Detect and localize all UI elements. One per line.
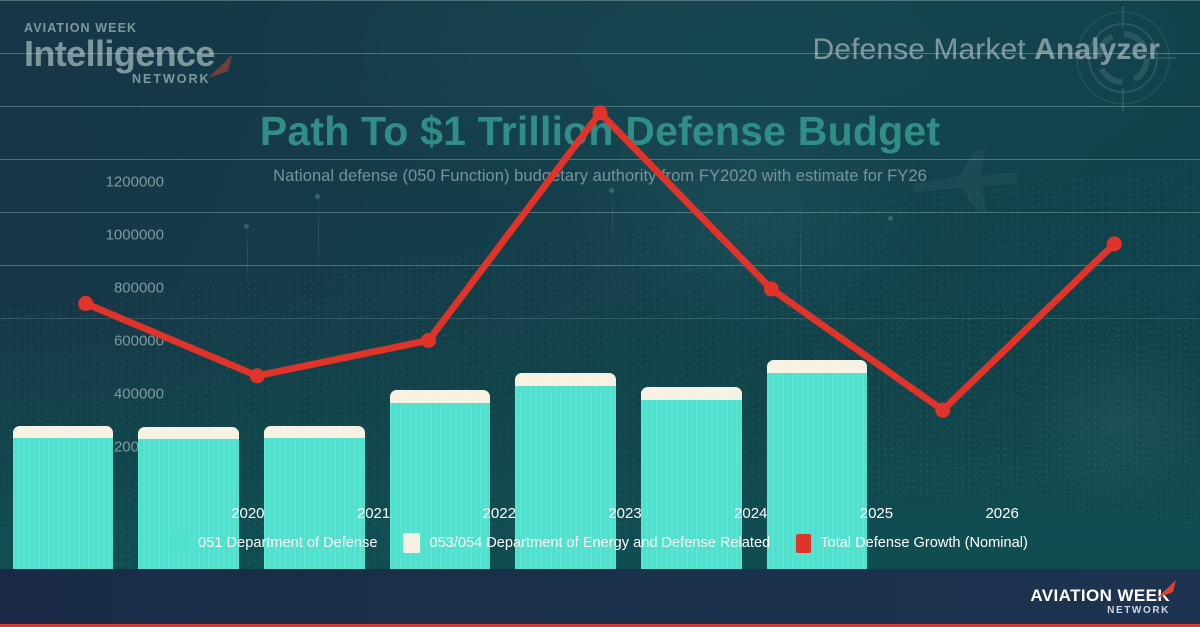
x-axis-tick-label: 2024 <box>734 505 767 522</box>
growth-marker-2021 <box>250 368 265 383</box>
legend-label: Total Defense Growth (Nominal) <box>820 535 1028 551</box>
footer-logo: AVIATION WEEK NETWORK <box>1030 587 1170 617</box>
chart-legend: 051 Department of Defense053/054 Departm… <box>0 533 1200 553</box>
footer-logo-line1: AVIATION WEEK <box>1030 587 1170 605</box>
footer-bar <box>0 569 1200 627</box>
legend-item-1[interactable]: 053/054 Department of Energy and Defense… <box>403 533 770 553</box>
legend-label: 051 Department of Defense <box>198 535 377 551</box>
x-axis-tick-label: 2020 <box>231 505 264 522</box>
x-axis-labels: 2020202120222023202420252026 <box>185 505 1065 529</box>
legend-swatch-icon <box>403 533 420 553</box>
legend-swatch-icon <box>796 534 811 553</box>
legend-swatch-icon <box>172 533 189 553</box>
growth-marker-2024 <box>764 282 779 297</box>
infographic-canvas: AVIATION WEEK Intelligence NETWORK Defen… <box>0 0 1200 627</box>
footer-swoosh-icon <box>1156 579 1178 599</box>
growth-marker-2025 <box>935 403 950 418</box>
footer-logo-line2: NETWORK <box>1030 605 1170 617</box>
x-axis-tick-label: 2026 <box>985 505 1018 522</box>
growth-marker-2022 <box>421 333 436 348</box>
growth-marker-2020 <box>78 296 93 311</box>
x-axis-tick-label: 2021 <box>357 505 390 522</box>
legend-item-2[interactable]: Total Defense Growth (Nominal) <box>796 534 1028 553</box>
x-axis-tick-label: 2022 <box>483 505 516 522</box>
x-axis-tick-label: 2023 <box>608 505 641 522</box>
legend-label: 053/054 Department of Energy and Defense… <box>429 535 770 551</box>
growth-line-markers <box>0 0 1200 434</box>
growth-marker-2023 <box>592 105 607 120</box>
legend-item-0[interactable]: 051 Department of Defense <box>172 533 377 553</box>
x-axis-tick-label: 2025 <box>860 505 893 522</box>
growth-marker-2026 <box>1107 236 1122 251</box>
